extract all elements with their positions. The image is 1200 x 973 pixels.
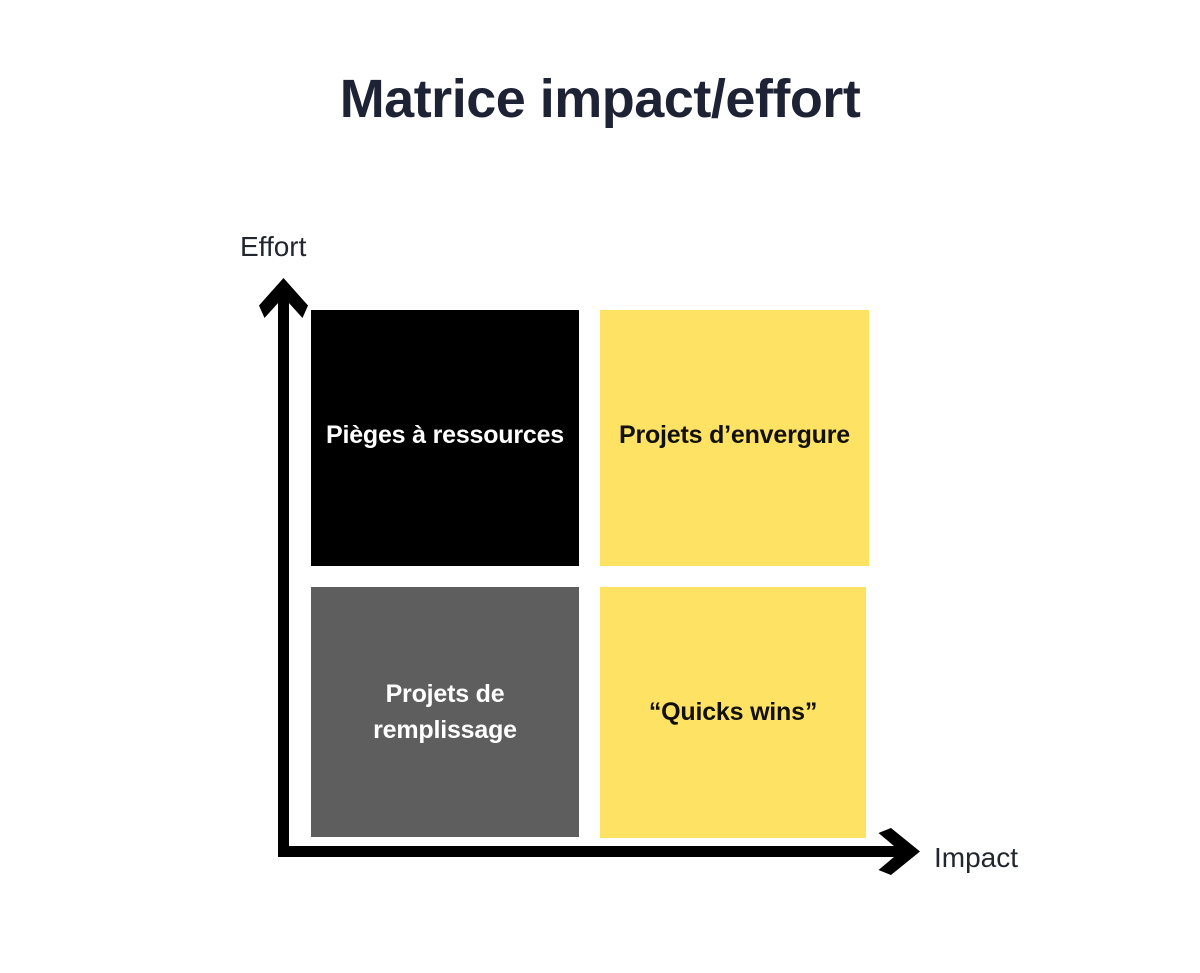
page-title: Matrice impact/effort [0,72,1200,126]
arrow-up-icon [259,278,308,318]
y-axis-label: Effort [240,230,306,264]
arrow-right-icon [879,828,921,875]
quadrant-label: “Quicks wins” [649,694,817,730]
x-axis-label: Impact [934,841,1018,875]
quadrant-label: Projets de remplissage [373,676,517,749]
matrix-diagram-canvas: Matrice impact/effort Effort Impact Pièg… [0,0,1200,973]
quadrant-label: Projets d’envergure [619,417,850,453]
x-axis-line [278,846,902,857]
quadrant-low-effort-low-impact[interactable]: Projets de remplissage [311,587,579,837]
quadrant-label: Pièges à ressources [326,417,564,453]
quadrant-high-effort-low-impact[interactable]: Pièges à ressources [311,310,579,566]
quadrant-low-effort-high-impact[interactable]: “Quicks wins” [600,587,866,838]
y-axis-line [278,296,289,857]
quadrant-high-effort-high-impact[interactable]: Projets d’envergure [600,310,869,566]
